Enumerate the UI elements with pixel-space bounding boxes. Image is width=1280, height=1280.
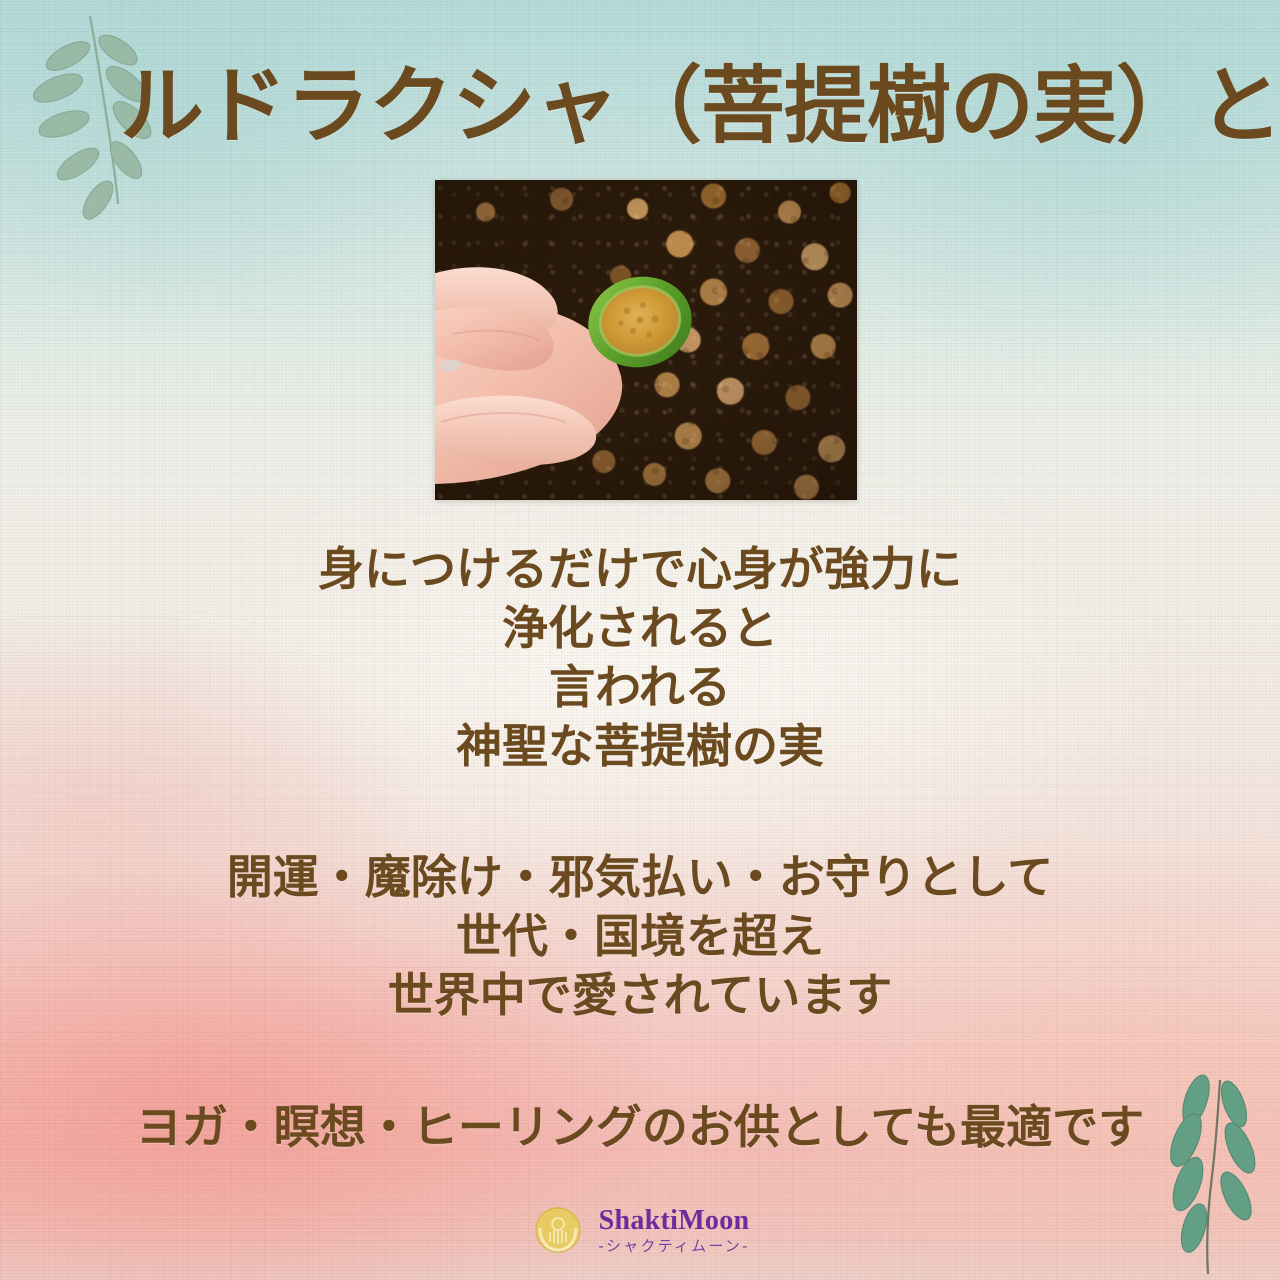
body-line: 身につけるだけで心身が強力に <box>0 540 1280 599</box>
shaktimoon-emblem-icon <box>530 1202 586 1258</box>
brand-logo[interactable]: ShaktiMoon -シャクティムーン- <box>0 1198 1280 1262</box>
body-line: 浄化されると <box>0 599 1280 658</box>
brand-text: ShaktiMoon -シャクティムーン- <box>598 1205 749 1256</box>
body-line: 神聖な菩提樹の実 <box>0 717 1280 776</box>
rudraksha-fruit-slice <box>585 275 695 370</box>
page-title: ルドラクシャ（菩提樹の実）とは？ <box>120 54 1180 158</box>
body-line: 言われる <box>0 658 1280 717</box>
body-block-1: 身につけるだけで心身が強力に 浄化されると 言われる 神聖な菩提樹の実 <box>0 540 1280 776</box>
brand-name: ShaktiMoon <box>599 1205 750 1236</box>
body-line: 世代・国境を超え <box>0 907 1280 966</box>
body-block-2: 開運・魔除け・邪気払い・お守りとして 世代・国境を超え 世界中で愛されています <box>0 848 1280 1025</box>
body-block-3: ヨガ・瞑想・ヒーリングのお供としても最適です <box>0 1098 1280 1157</box>
hero-photo <box>435 180 857 500</box>
body-line: 開運・魔除け・邪気払い・お守りとして <box>0 848 1280 907</box>
poster-canvas: ルドラクシャ（菩提樹の実）とは？ <box>0 0 1280 1280</box>
body-line: ヨガ・瞑想・ヒーリングのお供としても最適です <box>0 1098 1280 1157</box>
brand-subtitle: -シャクティムーン- <box>598 1236 749 1256</box>
body-line: 世界中で愛されています <box>0 966 1280 1025</box>
